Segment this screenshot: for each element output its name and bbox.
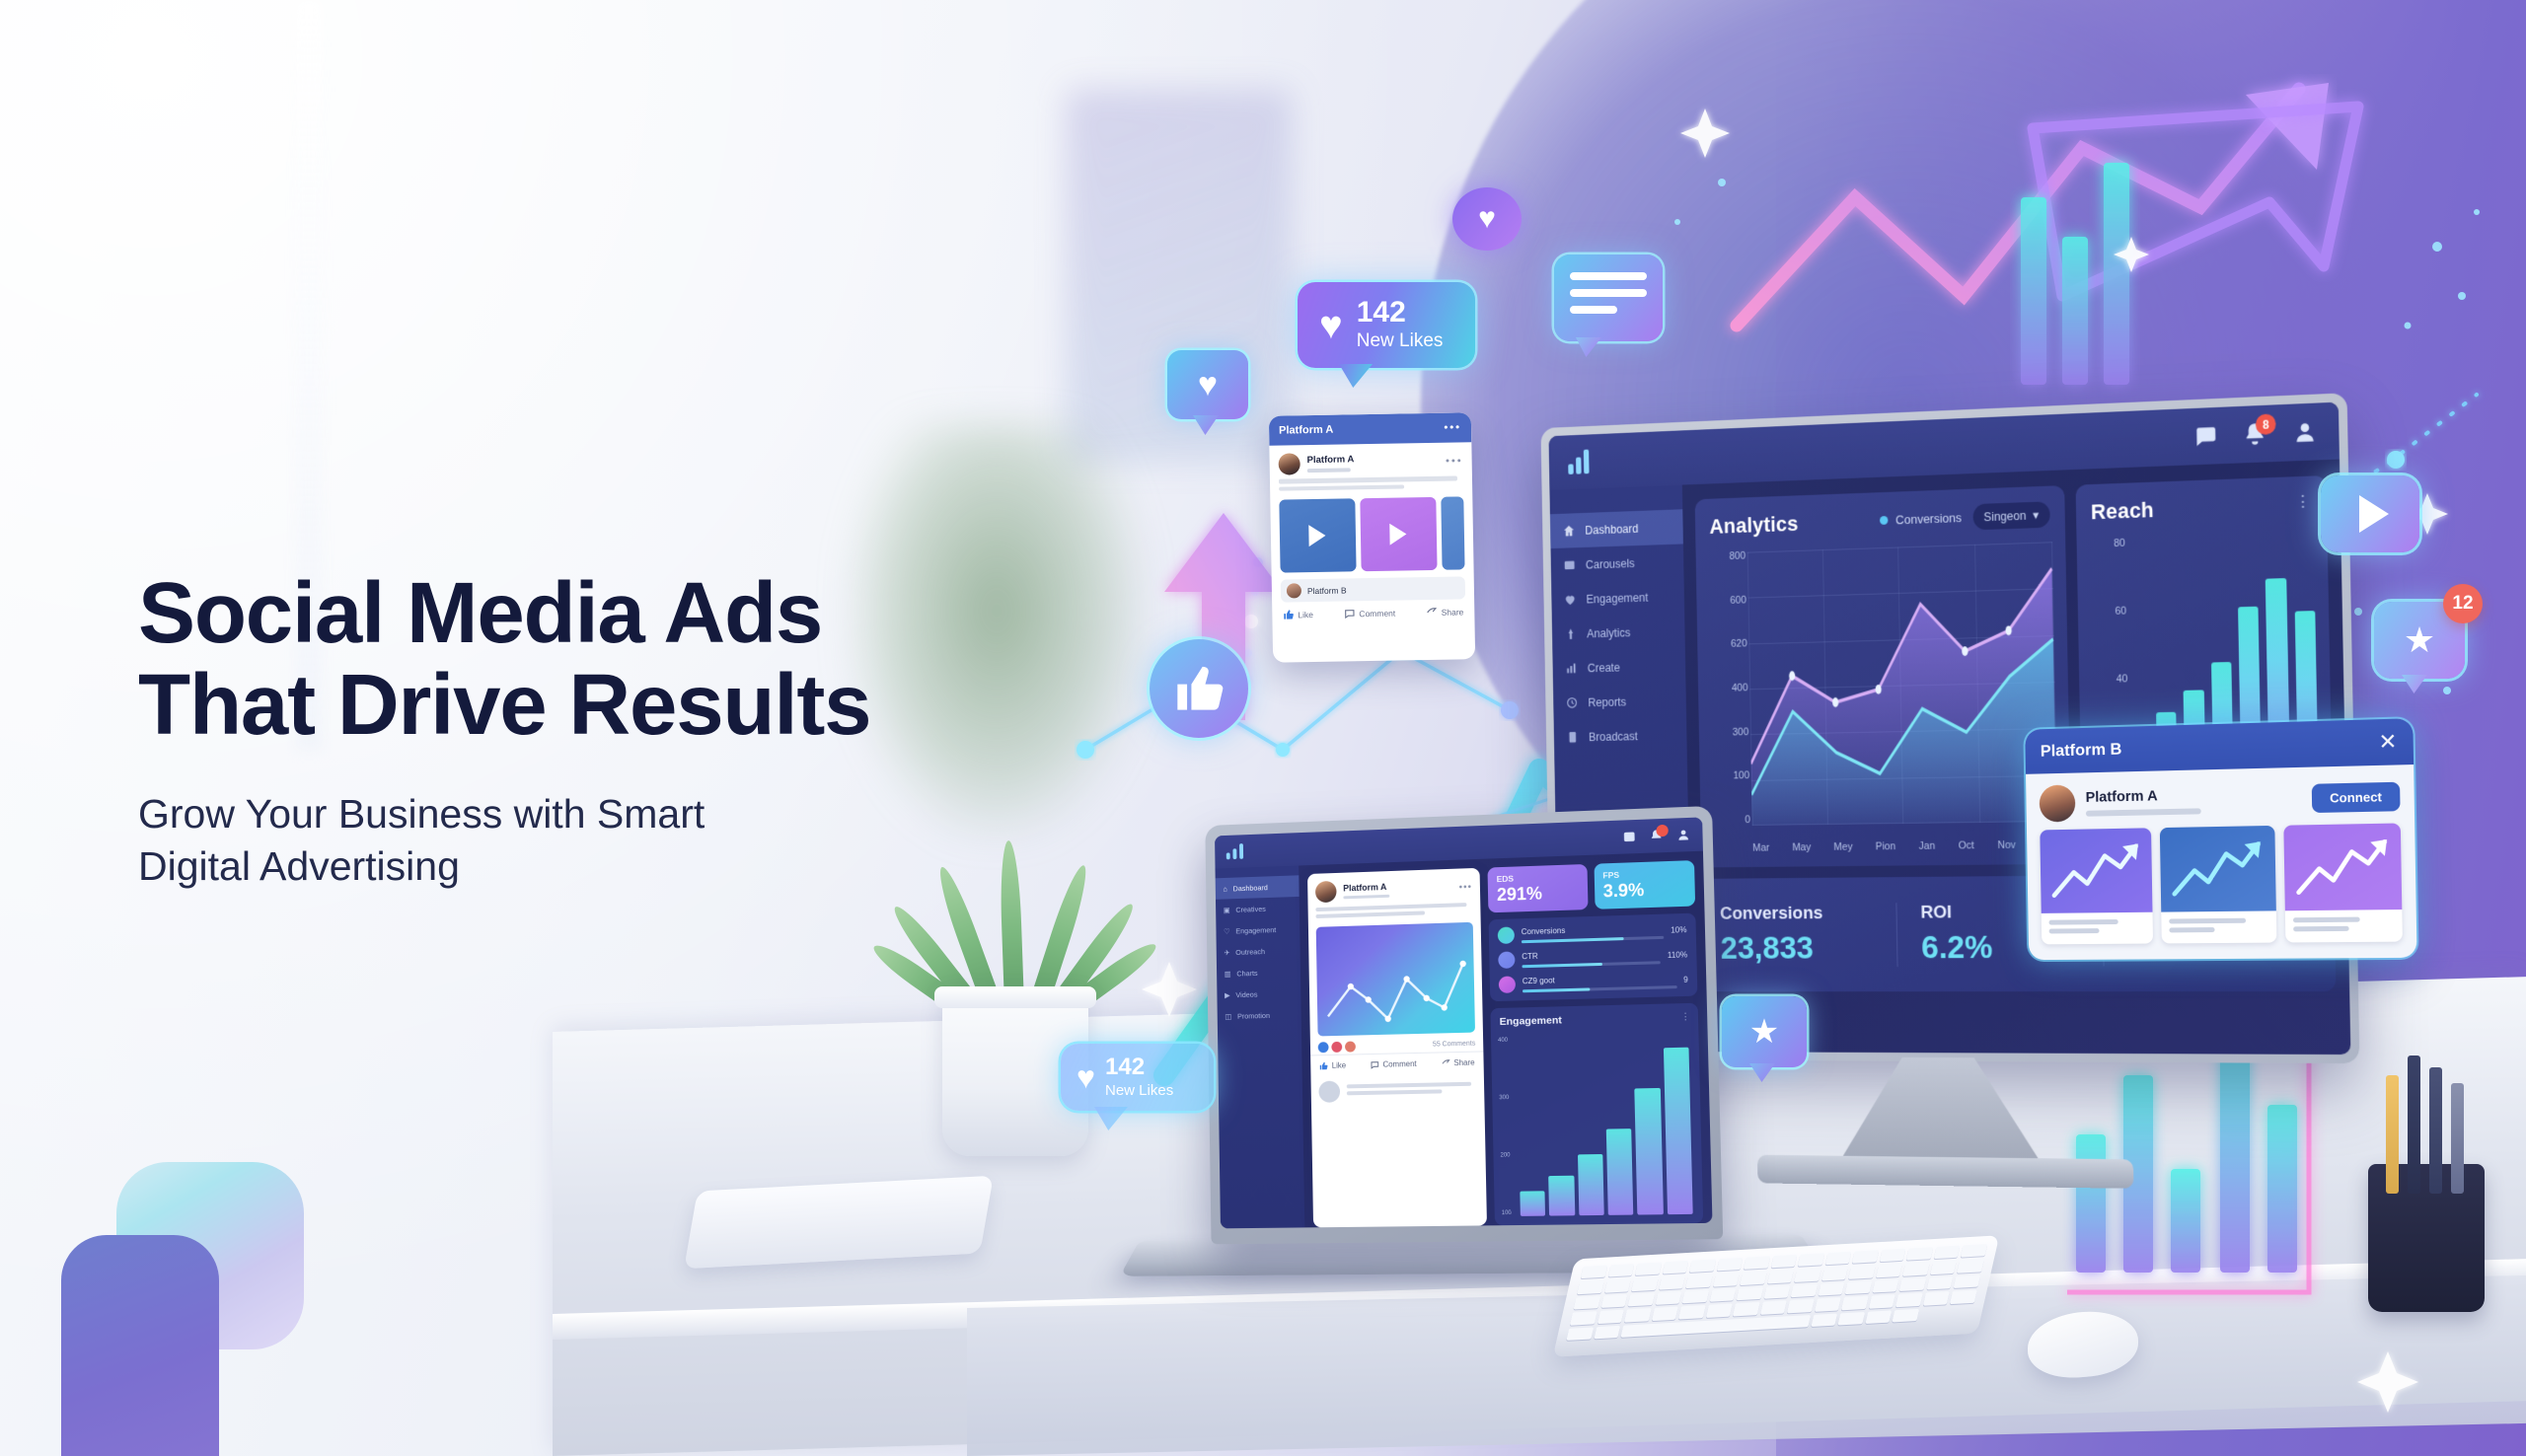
corner-shape-blue [61,1235,219,1456]
chart-icon [1564,626,1577,641]
y-tick: 300 [1499,1095,1509,1101]
y-tick: 0 [1709,814,1750,826]
analytics-card: Analytics Conversions Singeon ▾ [1695,485,2071,867]
growth-chart-icon [2160,826,2275,912]
reach-header: Reach [2091,492,2312,526]
y-tick: 300 [1708,726,1749,738]
sidebar-label: Dashboard [1233,883,1268,893]
laptop-main: Platform A ••• [1299,851,1712,1228]
tagged-name: Platform B [1307,585,1347,596]
social-card-title: Platform A [1279,424,1333,437]
progress-track [1523,985,1676,992]
close-icon[interactable]: ✕ [2378,729,2397,756]
post-chart-image [1316,922,1475,1037]
send-icon: ✈ [1224,948,1229,957]
laptop-sidebar-item-charts[interactable]: ▥ Charts [1217,961,1300,984]
kpi-value: 23,833 [1720,929,1884,967]
x-tick: Jan [1919,840,1936,852]
platform-b-thumbnails [2027,823,2416,956]
action-label: Share [1453,1058,1474,1067]
pencil [2451,1083,2464,1194]
comment-button[interactable]: Comment [1371,1059,1417,1069]
legend-label: Conversions [1895,510,1962,527]
sidebar-label: Creatives [1235,904,1266,913]
sidebar-label: Broadcast [1589,729,1638,743]
y-tick: 60 [2083,606,2126,619]
laptop-topbar-actions [1622,828,1690,844]
progress-value: 9 [1683,976,1688,984]
sidebar-item-dashboard[interactable]: Dashboard [1550,509,1683,548]
heart-pin-left: ♥ [1167,350,1248,419]
analytics-x-axis: Mar May Mey Pion Jan Oct Nov Dec [1752,838,2057,853]
social-card-media [1270,496,1473,573]
heart-icon: ♥ [1478,202,1496,236]
y-tick: 400 [1498,1038,1508,1044]
star-icon: ★ [1749,1012,1779,1052]
action-label: Comment [1382,1059,1416,1069]
more-options-icon[interactable]: ••• [1458,882,1472,893]
laptop-sidebar: ⌂ Dashboard ▣ Creatives ♡ Engagement ✈ [1216,865,1305,1228]
stat-tile-eds: EDS 291% [1487,864,1588,912]
kebab-menu-icon[interactable]: ⋮ [1680,1011,1689,1022]
sidebar-label: Dashboard [1585,522,1638,537]
comment-button[interactable]: Comment [1344,608,1395,619]
new-likes-text: 142 New Likes [1105,1056,1173,1099]
sidebar-label: Promotion [1237,1011,1270,1021]
sidebar-label: Engagement [1586,591,1648,606]
avatar [2040,784,2076,822]
action-label: Like [1332,1061,1347,1070]
bar-chart-logo [1568,450,1590,474]
notification-dot [1656,825,1668,837]
likes-count: 142 [1357,296,1406,328]
growth-chart-icon [2040,828,2153,913]
platform-b-user-row: Platform A Connect [2026,764,2415,831]
video-thumbnail[interactable] [1360,497,1437,571]
avatar [1315,881,1337,903]
post-comment-row [1310,1072,1484,1107]
new-likes-text: 142 New Likes [1357,298,1444,352]
action-label: Like [1298,610,1313,619]
x-tick: Mar [1752,842,1769,854]
thumbnail-caption [2162,910,2276,943]
chat-icon [1499,976,1516,992]
sidebar-label: Analytics [1587,625,1630,639]
platform-b-card: Platform B ✕ Platform A Connect [2025,718,2416,960]
range-selector[interactable]: Singeon ▾ [1972,501,2050,530]
post-user-name: Platform A [1343,882,1389,893]
comment-placeholder [1347,1082,1477,1099]
sidebar-label: Create [1588,661,1620,675]
tagged-account-row[interactable]: Platform B [1281,576,1465,602]
post-more-icon[interactable]: ••• [1446,455,1463,467]
y-tick: 80 [2082,538,2125,550]
y-tick: 600 [1705,594,1746,607]
analytics-y-axis: 800 600 620 400 300 100 0 [1705,550,1750,827]
tile-value: 291% [1497,882,1579,906]
new-likes-badge-top: ♥ 142 New Likes [1298,282,1475,368]
share-button[interactable]: Share [1427,606,1464,618]
star-icon: ★ [2404,619,2435,661]
y-tick: 400 [1707,683,1748,694]
sidebar-label: Videos [1235,989,1257,998]
user-icon[interactable] [2292,418,2318,445]
heart-icon: ♥ [1077,1061,1095,1093]
chat-bubble-pin [1554,255,1663,341]
sidebar-item-broadcast[interactable]: Broadcast [1554,717,1687,755]
video-thumbnail-partial[interactable] [1441,496,1464,569]
progress-label: CZ9 goot [1523,972,1676,984]
x-tick: Nov [1997,839,2016,851]
y-tick: 800 [1705,550,1746,563]
post-header: Platform A ••• [1307,868,1480,909]
sidebar-item-carousels[interactable]: Carousels [1551,544,1684,582]
sidebar-label: Reports [1588,694,1626,708]
sidebar-label: Charts [1236,969,1257,978]
new-likes-badge-bottom: ♥ 142 New Likes [1061,1044,1214,1111]
y-tick: 200 [1500,1152,1510,1158]
social-post-card: Platform A ••• [1307,868,1487,1228]
reaction-like-icon [1318,1042,1329,1053]
x-tick: Pion [1876,840,1896,852]
post-author: Platform A [1343,882,1389,900]
hero-banner: 8 [0,0,2526,1456]
progress-row-ctr: CTR 110% [1498,946,1687,969]
engagement-bar [1606,1128,1634,1215]
laptop-sidebar-item-dashboard[interactable]: ⌂ Dashboard [1216,875,1300,899]
engagement-title: Engagement [1500,1011,1689,1028]
y-tick: 100 [1502,1210,1512,1216]
like-button[interactable]: Like [1319,1061,1346,1071]
progress-track [1522,961,1660,968]
play-icon [1309,525,1326,546]
keyboard-keys [1566,1244,1987,1341]
progress-metrics-card: Conversions 10% CTR [1489,913,1698,1002]
bell-icon[interactable]: 8 [2242,421,2267,448]
user-name: Platform A [2086,786,2201,805]
clock-icon [1565,695,1578,709]
bars-icon [1565,661,1578,675]
reaction-love-icon [1331,1042,1342,1053]
engagement-bar [1578,1154,1604,1215]
laptop-lid: ⌂ Dashboard ▣ Creatives ♡ Engagement ✈ [1205,806,1723,1244]
heart-icon: ♡ [1224,926,1230,935]
platform-b-title: Platform B [2041,740,2122,762]
chat-line [1570,289,1647,297]
progress-row-other: CZ9 goot 9 [1499,972,1688,993]
progress-row-conversions: Conversions 10% [1498,921,1687,944]
pencil [2386,1075,2399,1194]
likes-label: New Likes [1357,330,1444,352]
hero-text-block: Social Media Ads That Drive Results Grow… [138,567,1125,894]
social-card-header: Platform A ••• [1269,412,1471,446]
engagement-bars [1517,1033,1693,1215]
play-icon [1390,523,1407,545]
target-icon [1498,926,1515,943]
progress-label: CTR [1522,948,1661,961]
laptop-metrics-column: EDS 291% FPS 3.9% [1487,860,1703,1225]
laptop-sidebar-item-videos[interactable]: ▶ Videos [1217,983,1300,1006]
analytics-title: Analytics [1709,511,1798,539]
sidebar-label: Outreach [1235,947,1265,957]
thumbnail-caption [2042,912,2154,945]
message-icon[interactable] [1622,830,1637,844]
engagement-card: Engagement ⋮ 400 300 200 100 [1490,1003,1703,1226]
social-card-user-row: Platform A ••• [1269,442,1472,479]
engagement-bar [1664,1048,1693,1214]
topbar-actions: 8 [2192,418,2318,449]
device-icon [1566,730,1579,744]
home-icon [1562,524,1575,539]
notification-count-badge: 8 [2256,413,2276,435]
sidebar-label: Carousels [1586,556,1635,571]
user-name: Platform A [1307,455,1355,467]
engagement-bar [1635,1088,1664,1215]
analytics-plot [1747,542,2057,826]
thumbnail-card[interactable] [2040,828,2153,944]
heart-pin-top: ♥ [1452,187,1522,251]
social-card-actions: Like Comment Share [1272,599,1474,620]
play-pin [2321,475,2419,552]
x-tick: Oct [1959,839,1974,851]
tile-value: 3.9% [1603,879,1686,903]
thumbs-up-pin [1150,639,1248,738]
pencil [2429,1067,2442,1194]
star-count-badge: 12 [2443,584,2483,623]
analytics-header: Analytics Conversions Singeon ▾ [1709,501,2049,539]
headline-line-1: Social Media Ads [138,565,822,661]
legend-dot [1880,516,1888,525]
laptop-sidebar-item-promotion[interactable]: ◫ Promotion [1218,1003,1301,1027]
stat-tile-fps: FPS 3.9% [1594,860,1695,910]
progress-body: CTR [1522,948,1661,968]
reaction-care-icon [1345,1041,1356,1052]
pencil [2408,1056,2420,1194]
floating-social-card: Platform A ••• Platform A ••• [1269,412,1475,663]
sidebar-label: Engagement [1235,925,1276,935]
progress-value: 110% [1668,950,1688,960]
sidebar-item-create[interactable]: Create [1552,648,1685,686]
laptop-sidebar-item-engagement[interactable]: ♡ Engagement [1216,918,1300,942]
kpi-conversions: Conversions 23,833 [1720,903,1897,967]
sidebar-item-analytics[interactable]: Analytics [1552,614,1685,652]
heart-icon: ♥ [1198,366,1218,404]
action-label: Share [1442,607,1464,617]
laptop: ⌂ Dashboard ▣ Creatives ♡ Engagement ✈ [1205,806,1723,1244]
trackpad [684,1176,994,1269]
chevron-down-icon: ▾ [2033,508,2039,523]
progress-label: Conversions [1522,922,1664,936]
user-subline [1307,469,1351,473]
laptop-body: ⌂ Dashboard ▣ Creatives ♡ Engagement ✈ [1216,851,1713,1229]
bell-icon[interactable] [1649,829,1664,843]
headline-line-2: That Drive Results [138,657,870,753]
kebab-menu-icon[interactable]: ⋮ [2294,491,2313,512]
thumbnail-card[interactable] [2160,826,2276,944]
chat-line [1570,306,1617,314]
share-button[interactable]: Share [1441,1058,1474,1068]
subhead-line-2: Digital Advertising [138,843,460,889]
post-timestamp-placeholder [1343,895,1389,900]
avatar [1287,583,1301,598]
social-card-user: Platform A [1307,455,1355,473]
home-icon: ⌂ [1223,884,1226,893]
laptop-sidebar-item-creatives[interactable]: ▣ Creatives [1216,897,1300,920]
pencil-cup [2368,1164,2485,1312]
y-tick: 620 [1706,638,1747,651]
action-label: Comment [1359,608,1395,619]
x-tick: Mey [1833,841,1852,853]
avatar [1278,453,1300,474]
sidebar-item-reports[interactable]: Reports [1553,683,1686,720]
sidebar-item-engagement[interactable]: Engagement [1551,579,1684,618]
thumbnail-caption [2284,910,2402,942]
heart-icon [1564,592,1577,607]
star-pin-counted: ★ 12 [2374,602,2465,679]
platform-b-user: Platform A [2086,786,2201,816]
progress-track [1522,935,1664,942]
reach-title: Reach [2091,497,2154,525]
image-icon: ▣ [1224,906,1230,914]
message-icon[interactable] [2192,423,2218,450]
likes-count: 142 [1105,1054,1145,1080]
video-icon: ▶ [1225,990,1230,999]
x-tick: May [1792,841,1811,853]
bar-chart-logo [1226,843,1243,859]
more-options-icon[interactable]: ••• [1444,421,1461,433]
heart-icon: ♥ [1319,306,1343,345]
page-title: Social Media Ads That Drive Results [138,567,1125,751]
user-icon[interactable] [1676,828,1691,842]
progress-body: Conversions [1522,922,1665,943]
megaphone-icon: ◫ [1225,1012,1231,1021]
analytics-legend: Conversions [1880,510,1962,527]
cursor-icon [1498,951,1515,968]
engagement-y-axis: 400 300 200 100 [1498,1038,1512,1216]
likes-label: New Likes [1105,1082,1173,1099]
chat-line [1570,272,1647,280]
progress-body: CZ9 goot [1523,972,1677,991]
engagement-bar [1549,1176,1575,1215]
laptop-screen: ⌂ Dashboard ▣ Creatives ♡ Engagement ✈ [1215,817,1712,1228]
avatar [1318,1081,1340,1103]
subhead-line-1: Grow Your Business with Smart [138,791,705,837]
engagement-bar [1520,1191,1545,1216]
kpi-label: Conversions [1720,903,1884,924]
range-value: Singeon [1983,509,2026,524]
play-icon [2359,495,2389,533]
y-tick: 40 [2085,673,2128,686]
post-comment-count: 55 Comments [1433,1041,1475,1049]
y-tick: 100 [1709,770,1750,782]
user-subline [2086,808,2201,816]
thumbnail-card[interactable] [2283,823,2403,942]
growth-chart-icon [2283,823,2402,910]
stat-tiles: EDS 291% FPS 3.9% [1487,860,1695,912]
laptop-sidebar-item-outreach[interactable]: ✈ Outreach [1217,939,1300,963]
image-icon [1563,558,1576,573]
like-button[interactable]: Like [1283,609,1313,620]
connect-button[interactable]: Connect [2312,781,2401,812]
star-pin: ★ [1722,996,1807,1067]
monitor-base [1757,1155,2134,1189]
video-thumbnail[interactable] [1279,498,1356,572]
hero-subheadline: Grow Your Business with Smart Digital Ad… [138,788,1125,894]
bars-icon: ▥ [1225,969,1231,978]
progress-value: 10% [1671,925,1687,935]
